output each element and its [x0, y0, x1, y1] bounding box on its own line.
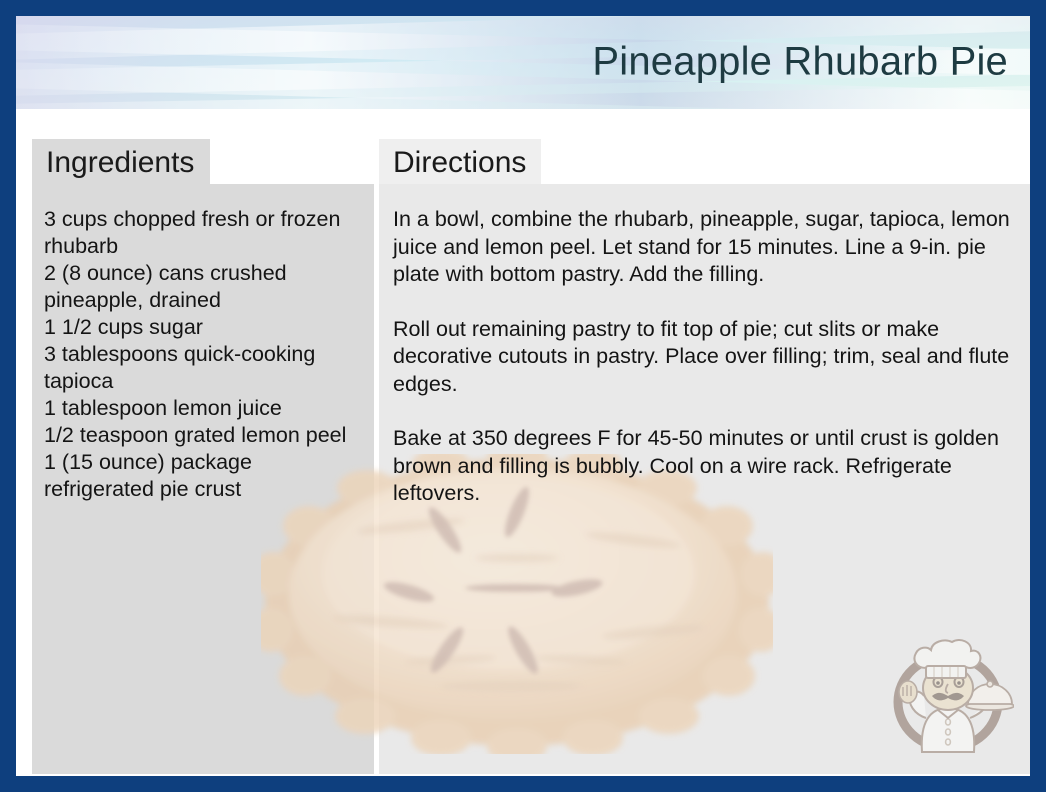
tab-ingredients[interactable]: Ingredients [32, 139, 210, 184]
ingredient-item: 1 (15 ounce) package refrigerated pie cr… [44, 449, 362, 503]
ingredients-panel: 3 cups chopped fresh or frozen rhubarb 2… [32, 184, 374, 774]
recipe-card: Pineapple Rhubarb Pie Ingredients Direct… [0, 0, 1046, 792]
ingredients-list: 3 cups chopped fresh or frozen rhubarb 2… [44, 206, 362, 503]
directions-panel: In a bowl, combine the rhubarb, pineappl… [379, 184, 1042, 774]
ingredient-item: 2 (8 ounce) cans crushed pineapple, drai… [44, 260, 362, 314]
direction-step: Bake at 350 degrees F for 45-50 minutes … [393, 425, 1028, 508]
title-banner: Pineapple Rhubarb Pie [16, 16, 1030, 109]
tab-directions[interactable]: Directions [379, 139, 541, 184]
ingredient-item: 1/2 teaspoon grated lemon peel [44, 422, 362, 449]
ingredient-item: 3 tablespoons quick-cooking tapioca [44, 341, 362, 395]
direction-step: In a bowl, combine the rhubarb, pineappl… [393, 206, 1028, 289]
recipe-title: Pineapple Rhubarb Pie [592, 39, 1008, 84]
ingredient-item: 3 cups chopped fresh or frozen rhubarb [44, 206, 362, 260]
ingredient-item: 1 1/2 cups sugar [44, 314, 362, 341]
ingredient-item: 1 tablespoon lemon juice [44, 395, 362, 422]
direction-step: Roll out remaining pastry to fit top of … [393, 316, 1028, 399]
